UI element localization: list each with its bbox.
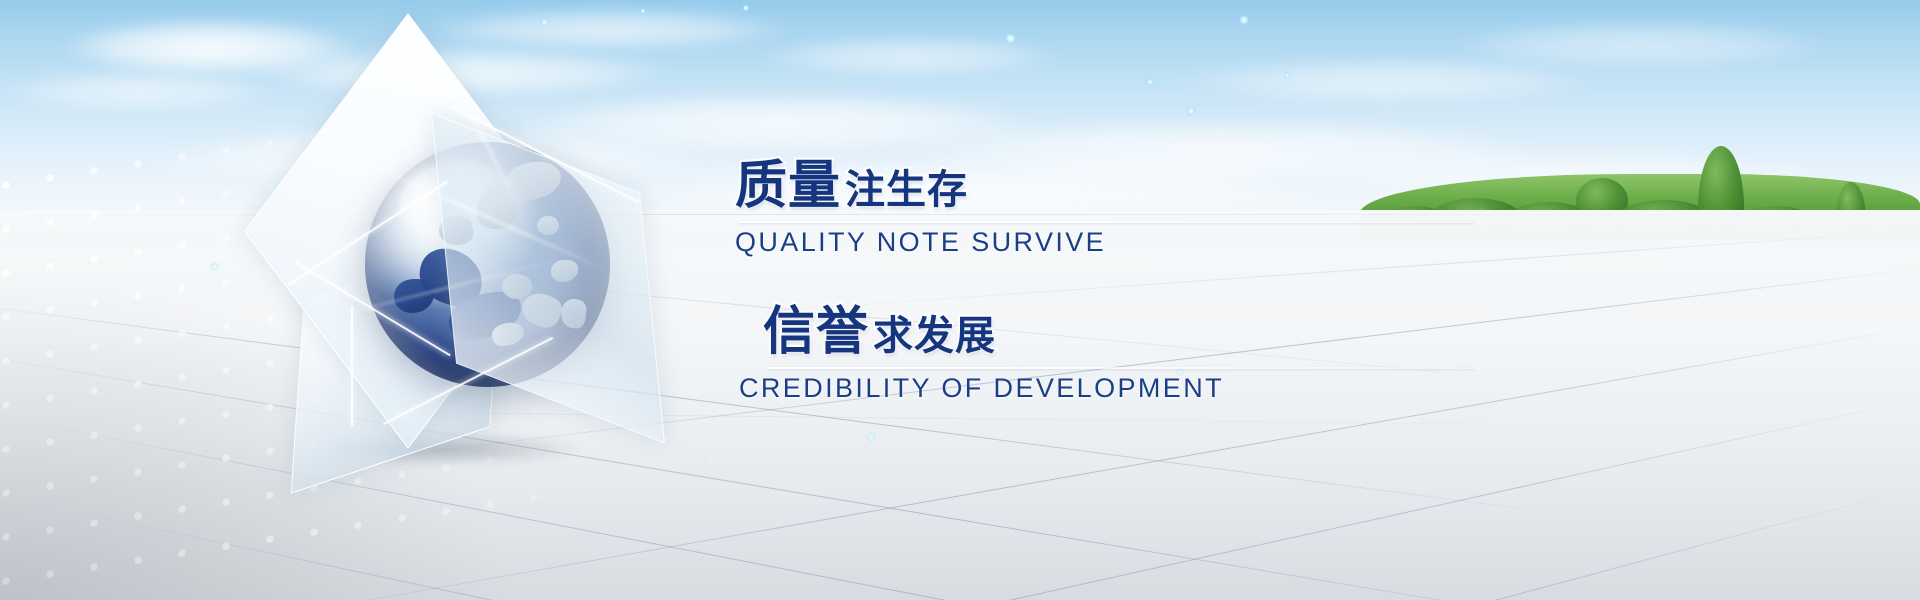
cube-edge: [351, 306, 353, 426]
cloud: [0, 70, 280, 110]
slogan-credibility-chinese: 信誉 求发展: [763, 306, 1475, 358]
slogan-credibility-cn-emphasis: 信誉: [763, 306, 869, 358]
corporate-banner: 质量 注生存 QUALITY NOTE SURVIVE 信誉 求发展 CREDI…: [0, 0, 1920, 600]
slogan-quality: 质量 注生存 QUALITY NOTE SURVIVE: [735, 160, 1475, 258]
slogan-copy-block: 质量 注生存 QUALITY NOTE SURVIVE 信誉 求发展 CREDI…: [735, 160, 1475, 404]
slogan-credibility-cn-rest: 求发展: [873, 316, 996, 358]
cloud: [1450, 20, 1830, 66]
slogan-quality-english: QUALITY NOTE SURVIVE: [735, 227, 1475, 258]
slogan-credibility-english: CREDIBILITY OF DEVELOPMENT: [739, 373, 1475, 404]
cloud: [430, 8, 790, 48]
slogan-credibility-divider: [767, 367, 1475, 369]
slogan-credibility: 信誉 求发展 CREDIBILITY OF DEVELOPMENT: [763, 306, 1475, 404]
cloud: [1180, 58, 1600, 102]
slogan-quality-divider: [739, 221, 1475, 223]
glass-cube-globe-emblem: [255, 80, 685, 480]
slogan-quality-cn-emphasis: 质量: [735, 160, 841, 212]
slogan-quality-cn-rest: 注生存: [845, 170, 968, 212]
slogan-quality-chinese: 质量 注生存: [735, 160, 1475, 212]
